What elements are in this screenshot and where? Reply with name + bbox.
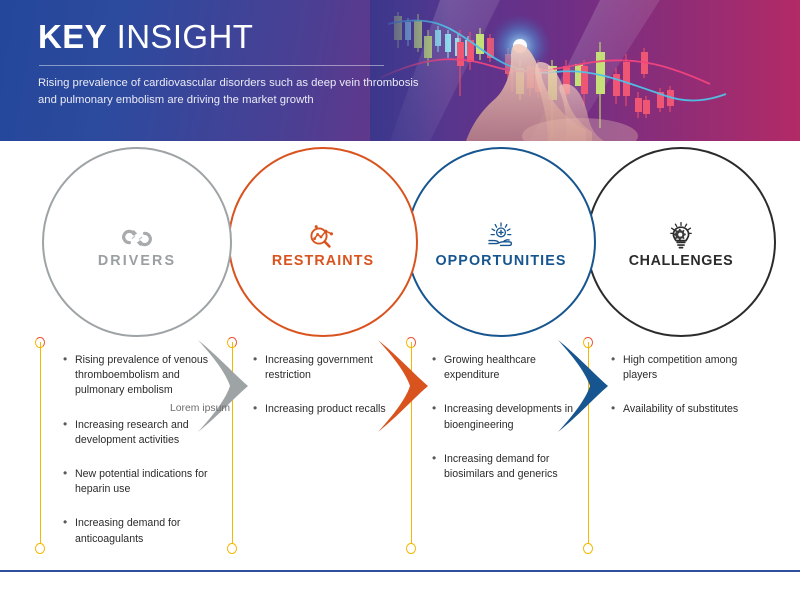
chevron-opportunities-to-challenges — [556, 338, 626, 434]
list-item: •Increasing research and development act… — [62, 418, 212, 448]
list-item-text: Rising prevalence of venous thromboembol… — [75, 354, 208, 396]
page-title-bold: KEY — [38, 18, 107, 55]
pillar-label: DRIVERS — [98, 253, 176, 269]
pillar-label: RESTRAINTS — [272, 253, 374, 269]
header-banner: KEY INSIGHT Rising prevalence of cardiov… — [0, 0, 800, 141]
content-area: DRIVERS — [0, 141, 800, 568]
chevron-drivers-to-restraints — [196, 338, 266, 434]
bullet-glyph: • — [63, 417, 67, 432]
list-item: •Rising prevalence of venous thromboembo… — [62, 353, 212, 399]
list-item: •High competition among players — [610, 353, 760, 383]
pillar-circle-opportunities[interactable]: OPPORTUNITIES — [406, 147, 596, 337]
pillar-circle-drivers[interactable]: DRIVERS — [42, 147, 232, 337]
footer-band — [0, 572, 800, 591]
list-item-text: Availability of substitutes — [623, 403, 738, 415]
hand-holding-light-icon — [485, 216, 517, 250]
bullet-glyph: • — [432, 451, 436, 466]
timeline-dot-bottom — [35, 543, 45, 554]
lorem-ipsum-overlay-artifact: Lorem ipsum — [170, 403, 230, 414]
list-item-text: Increasing research and development acti… — [75, 419, 189, 446]
pillar-label: OPPORTUNITIES — [435, 253, 566, 269]
magnifier-chart-icon — [306, 216, 340, 250]
list-item: •Increasing demand for biosimilars and g… — [431, 452, 581, 482]
pillar-circles: DRIVERS — [0, 141, 800, 341]
list-item: •Availability of substitutes — [610, 402, 760, 417]
bullet-glyph: • — [63, 352, 67, 367]
list-item-text: Increasing government restriction — [265, 354, 373, 381]
header-subtitle: Rising prevalence of cardiovascular diso… — [38, 75, 423, 109]
bullet-list-challenges: •High competition among players •Availab… — [610, 353, 760, 437]
list-item-text: High competition among players — [623, 354, 737, 381]
list-item: •Increasing demand for anticoagulants — [62, 516, 212, 546]
list-item-text: Growing healthcare expenditure — [444, 354, 536, 381]
infographic-page: KEY INSIGHT Rising prevalence of cardiov… — [0, 0, 800, 591]
pillar-circle-challenges[interactable]: CHALLENGES — [586, 147, 776, 337]
list-item: •New potential indications for heparin u… — [62, 467, 212, 497]
timeline-stem — [40, 342, 41, 553]
header-text-block: KEY INSIGHT Rising prevalence of cardiov… — [38, 17, 438, 109]
timeline-dot-bottom — [406, 543, 416, 554]
pillar-label: CHALLENGES — [629, 253, 734, 269]
timeline-dot-bottom — [227, 543, 237, 554]
list-item-text: Increasing product recalls — [265, 403, 386, 415]
bullet-glyph: • — [63, 515, 67, 530]
chevron-restraints-to-opportunities — [376, 338, 446, 434]
list-item-text: Increasing developments in bioengineerin… — [444, 403, 573, 430]
cycle-arrows-icon — [121, 216, 153, 250]
title-divider — [39, 65, 384, 66]
bullet-glyph: • — [63, 466, 67, 481]
list-item-text: Increasing demand for anticoagulants — [75, 517, 180, 544]
page-title-light: INSIGHT — [107, 18, 253, 55]
pillar-circle-restraints[interactable]: RESTRAINTS — [228, 147, 418, 337]
list-item-text: Increasing demand for biosimilars and ge… — [444, 453, 558, 480]
page-title: KEY INSIGHT — [38, 17, 438, 56]
timeline-dot-bottom — [583, 543, 593, 554]
bullet-list-drivers: •Rising prevalence of venous thromboembo… — [62, 353, 212, 566]
lightbulb-gear-icon — [666, 216, 696, 250]
list-item-text: New potential indications for heparin us… — [75, 468, 208, 495]
